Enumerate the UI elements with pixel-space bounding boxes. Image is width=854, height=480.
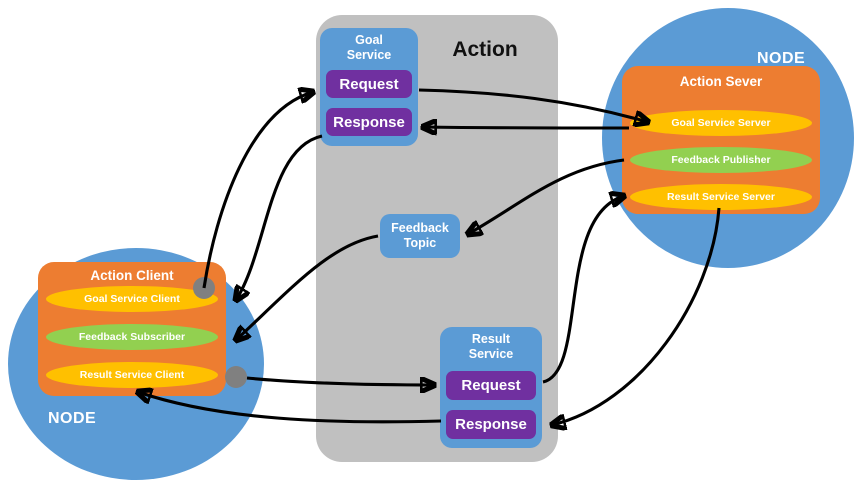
goal-service-title-line2: Service: [320, 48, 418, 63]
arrow-goal-client-to-goal-request: [204, 92, 313, 288]
result-service-title-line2: Service: [440, 347, 542, 362]
action-architecture-diagram: Action NODE NODE Action Client Goal Serv…: [0, 0, 854, 480]
feedback-topic-title-line1: Feedback: [391, 221, 449, 236]
action-server-box: Action Sever Goal Service Server Feedbac…: [622, 66, 820, 214]
result-service-title-line1: Result: [440, 332, 542, 347]
goal-service-box: Goal Service Request Response: [320, 28, 418, 146]
arrow-goal-response-to-goal-client: [236, 136, 322, 300]
goal-client-junction-dot: [193, 277, 215, 299]
feedback-topic-box[interactable]: Feedback Topic: [380, 214, 460, 258]
result-service-request-box[interactable]: Request: [446, 371, 536, 400]
endpoint-feedback-publisher[interactable]: Feedback Publisher: [630, 147, 812, 173]
action-panel-title: Action: [420, 38, 550, 62]
result-service-response-box[interactable]: Response: [446, 410, 536, 439]
goal-service-response-box[interactable]: Response: [326, 108, 412, 136]
result-client-junction-dot: [225, 366, 247, 388]
result-service-box: Result Service Request Response: [440, 327, 542, 448]
endpoint-goal-service-server[interactable]: Goal Service Server: [630, 110, 812, 136]
goal-service-title-line1: Goal: [320, 33, 418, 48]
goal-service-request-box[interactable]: Request: [326, 70, 412, 98]
endpoint-result-service-client[interactable]: Result Service Client: [46, 362, 218, 388]
endpoint-feedback-subscriber[interactable]: Feedback Subscriber: [46, 324, 218, 350]
action-server-title: Action Sever: [622, 74, 820, 89]
result-service-title: Result Service: [440, 332, 542, 362]
feedback-topic-title-line2: Topic: [404, 236, 436, 251]
client-node-label: NODE: [48, 410, 96, 428]
endpoint-result-service-server[interactable]: Result Service Server: [630, 184, 812, 210]
goal-service-title: Goal Service: [320, 33, 418, 63]
